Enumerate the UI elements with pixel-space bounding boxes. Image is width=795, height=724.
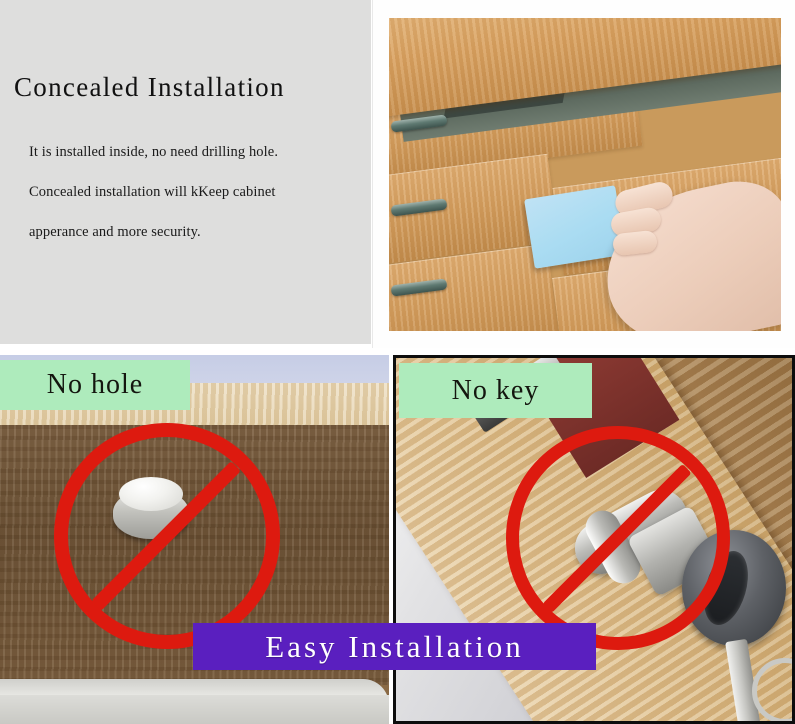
badge-no-hole-label: No hole	[47, 369, 143, 401]
easy-installation-banner: Easy Installation	[193, 623, 596, 670]
photo-concealed-install	[389, 18, 781, 331]
badge-no-key-label: No key	[452, 375, 540, 407]
description-line-3: apperance and more security.	[29, 212, 359, 252]
easy-installation-label: Easy Installation	[265, 629, 523, 665]
cabinet-knob	[113, 477, 189, 539]
page-title: Concealed Installation	[14, 72, 285, 103]
concealed-installation-info-panel: Concealed Installation It is installed i…	[0, 0, 371, 344]
description-line-2: Concealed installation will kKeep cabine…	[29, 172, 359, 212]
badge-no-key: No key	[399, 363, 592, 418]
product-infographic: Concealed Installation It is installed i…	[0, 0, 795, 724]
description-block: It is installed inside, no need drilling…	[29, 132, 359, 252]
cabinet-bottom-edge-inner	[0, 695, 389, 724]
knob-highlight	[119, 477, 183, 511]
badge-no-hole: No hole	[0, 360, 190, 410]
top-row: Concealed Installation It is installed i…	[0, 0, 795, 348]
photo-frame-top-right	[372, 0, 795, 348]
description-line-1: It is installed inside, no need drilling…	[29, 132, 359, 172]
